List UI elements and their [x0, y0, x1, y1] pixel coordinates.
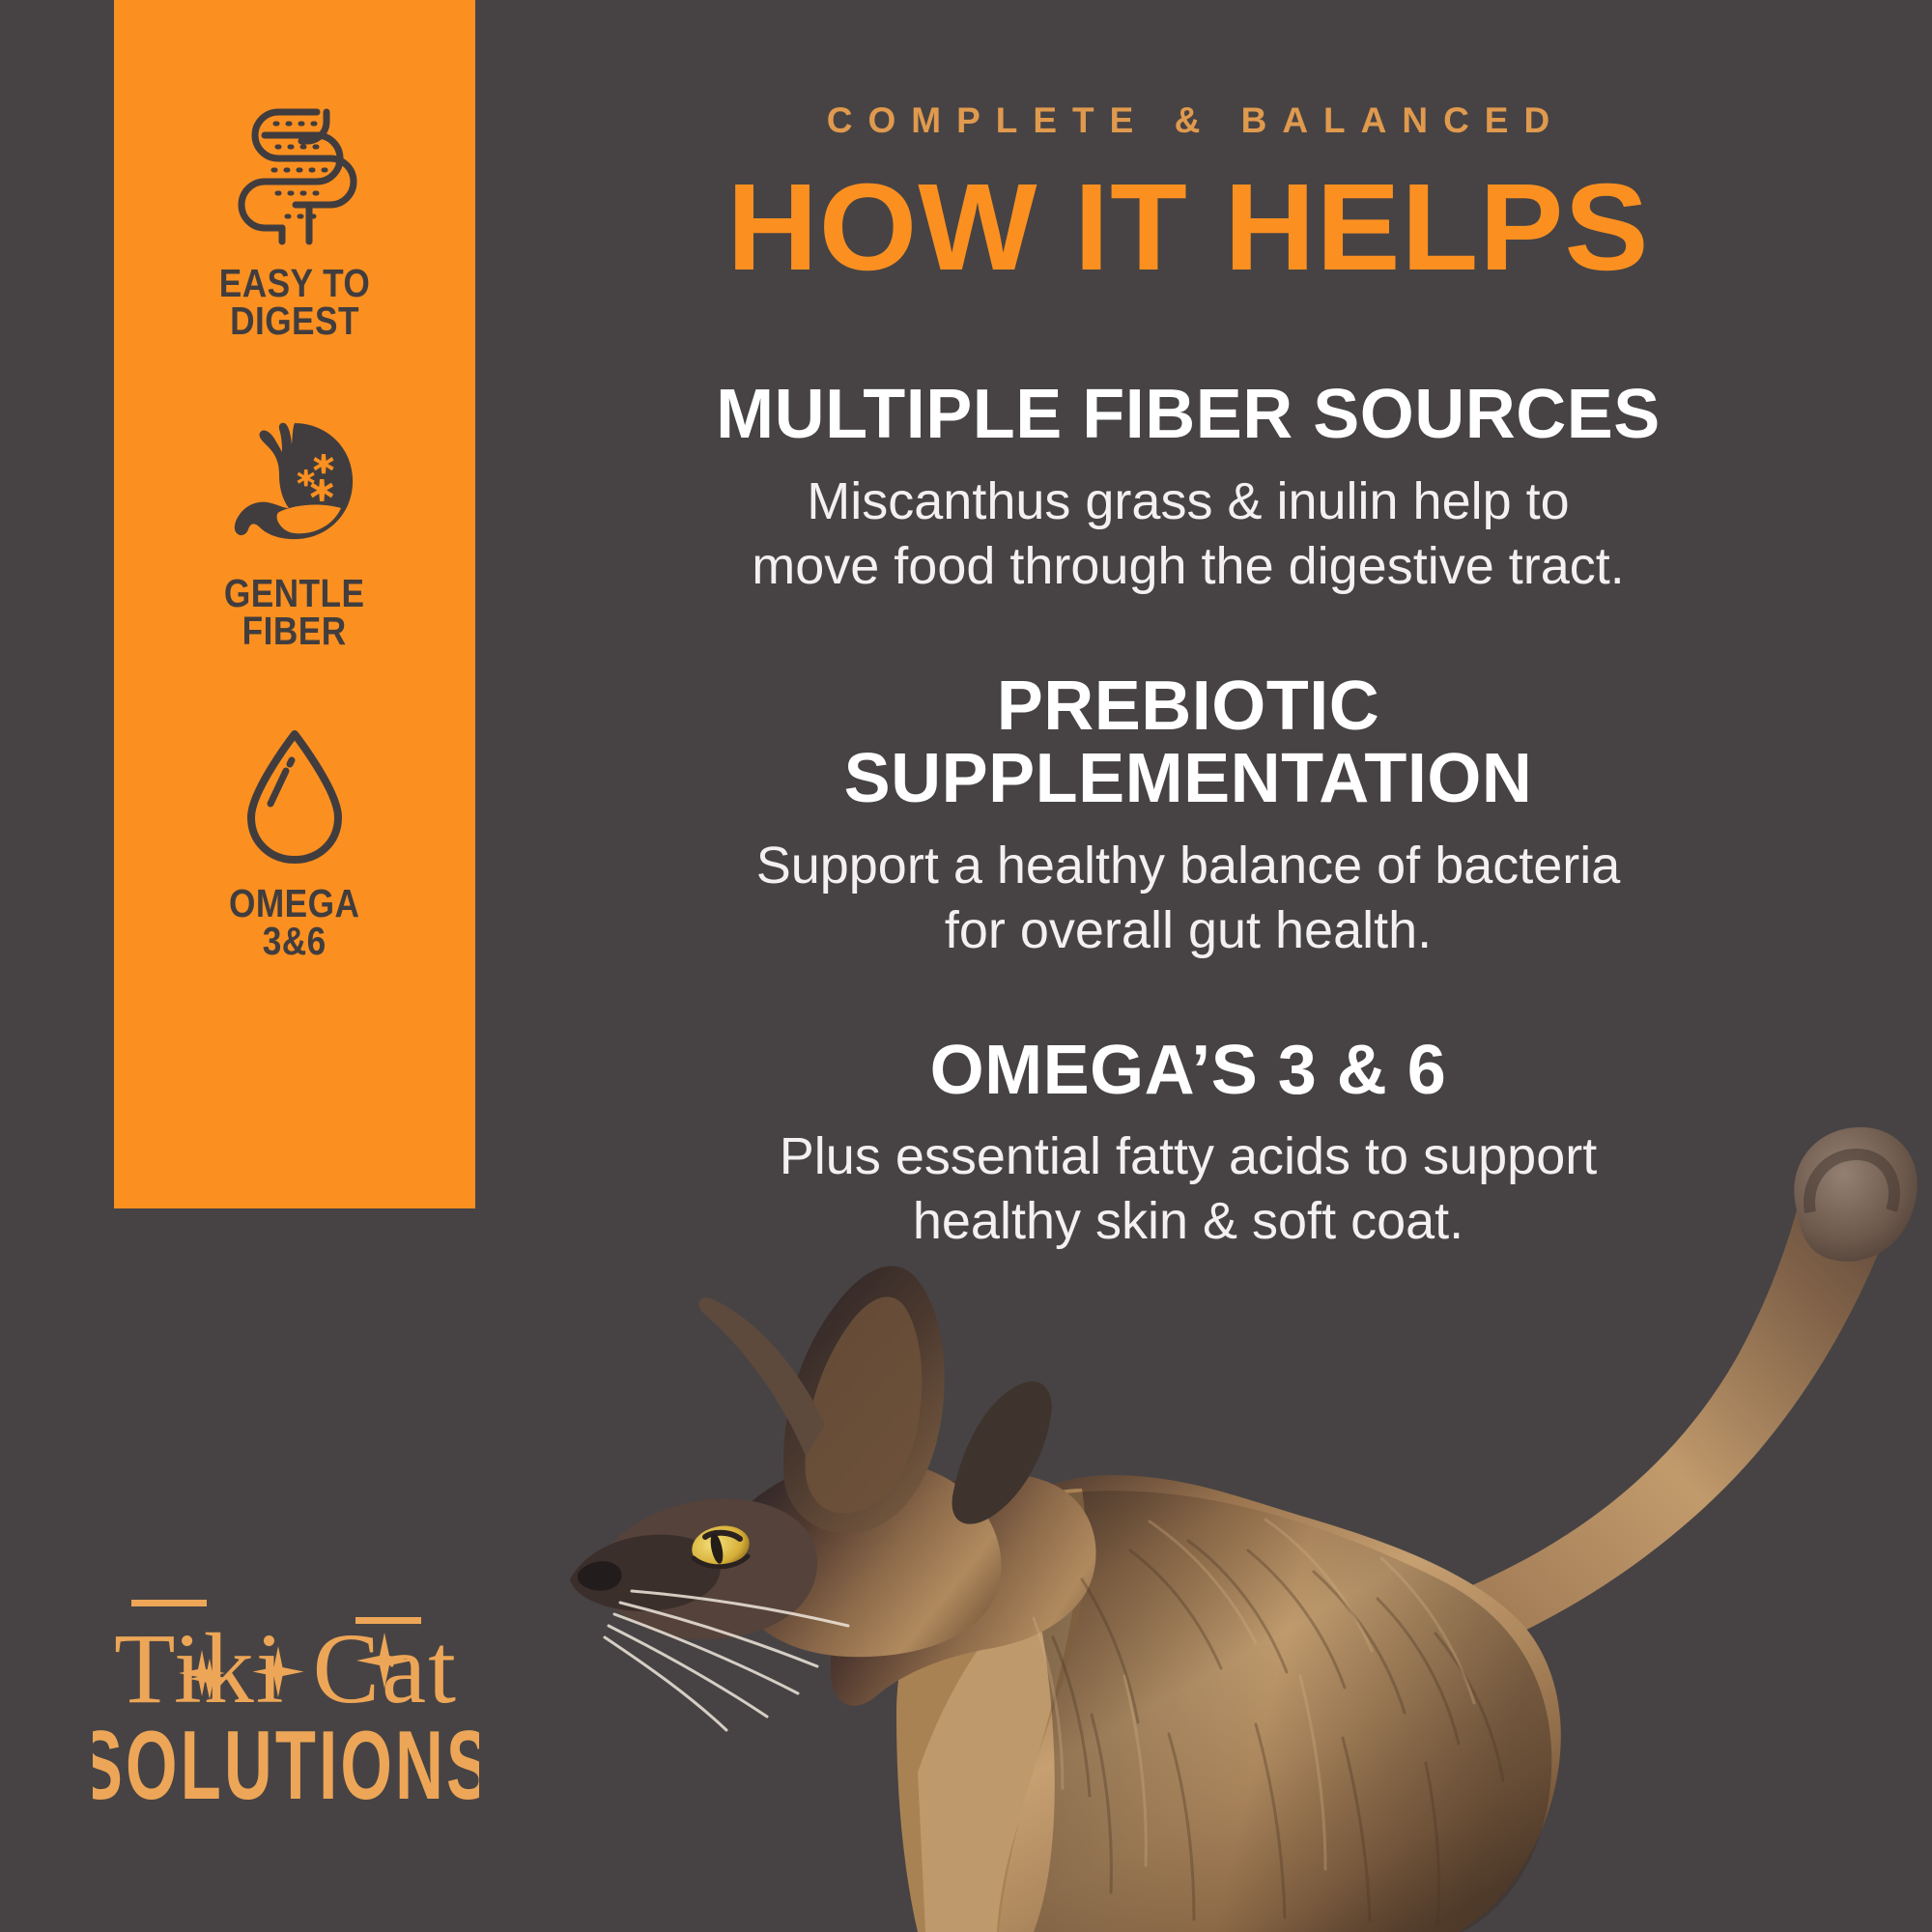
section-title: OMEGA’S 3 & 6 — [502, 1035, 1874, 1108]
badge-label: GENTLE FIBER — [224, 575, 365, 649]
stomach-icon — [221, 414, 368, 559]
benefit-section-fiber: MULTIPLE FIBER SOURCES Miscanthus grass … — [502, 379, 1874, 599]
benefit-section-omega: OMEGA’S 3 & 6 Plus essential fatty acids… — [502, 1035, 1874, 1255]
badge-label: EASY TO DIGEST — [219, 265, 371, 339]
section-body: Miscanthus grass & inulin help to move f… — [502, 469, 1874, 599]
content-column: COMPLETE & BALANCED HOW IT HELPS MULTIPL… — [502, 0, 1874, 1254]
section-body: Support a healthy balance of bacteria fo… — [502, 834, 1874, 963]
droplet-icon — [232, 724, 357, 869]
badge-gentle-fiber: GENTLE FIBER — [114, 414, 475, 649]
benefit-badge-panel: EASY TO DIGEST GENTLE FIBER — [114, 0, 475, 1208]
poster-canvas: EASY TO DIGEST GENTLE FIBER — [0, 0, 1932, 1932]
brand-logo: Tiki Cat SOLUTIONS — [93, 1557, 479, 1828]
section-title: PREBIOTIC SUPPLEMENTATION — [502, 670, 1874, 816]
section-body: Plus essential fatty acids to support he… — [502, 1124, 1874, 1254]
page-title: HOW IT HELPS — [489, 166, 1888, 290]
badge-label: OMEGA 3&6 — [229, 885, 359, 959]
brand-script-text: Tiki Cat — [114, 1613, 458, 1724]
section-title: MULTIPLE FIBER SOURCES — [502, 379, 1874, 452]
benefit-section-prebiotic: PREBIOTIC SUPPLEMENTATION Support a heal… — [502, 670, 1874, 963]
badge-omega-3-6: OMEGA 3&6 — [114, 724, 475, 959]
eyebrow-text: COMPLETE & BALANCED — [502, 100, 1874, 141]
badge-easy-to-digest: EASY TO DIGEST — [114, 104, 475, 339]
brand-sub-text: SOLUTIONS — [93, 1712, 479, 1820]
intestine-icon — [227, 104, 362, 249]
